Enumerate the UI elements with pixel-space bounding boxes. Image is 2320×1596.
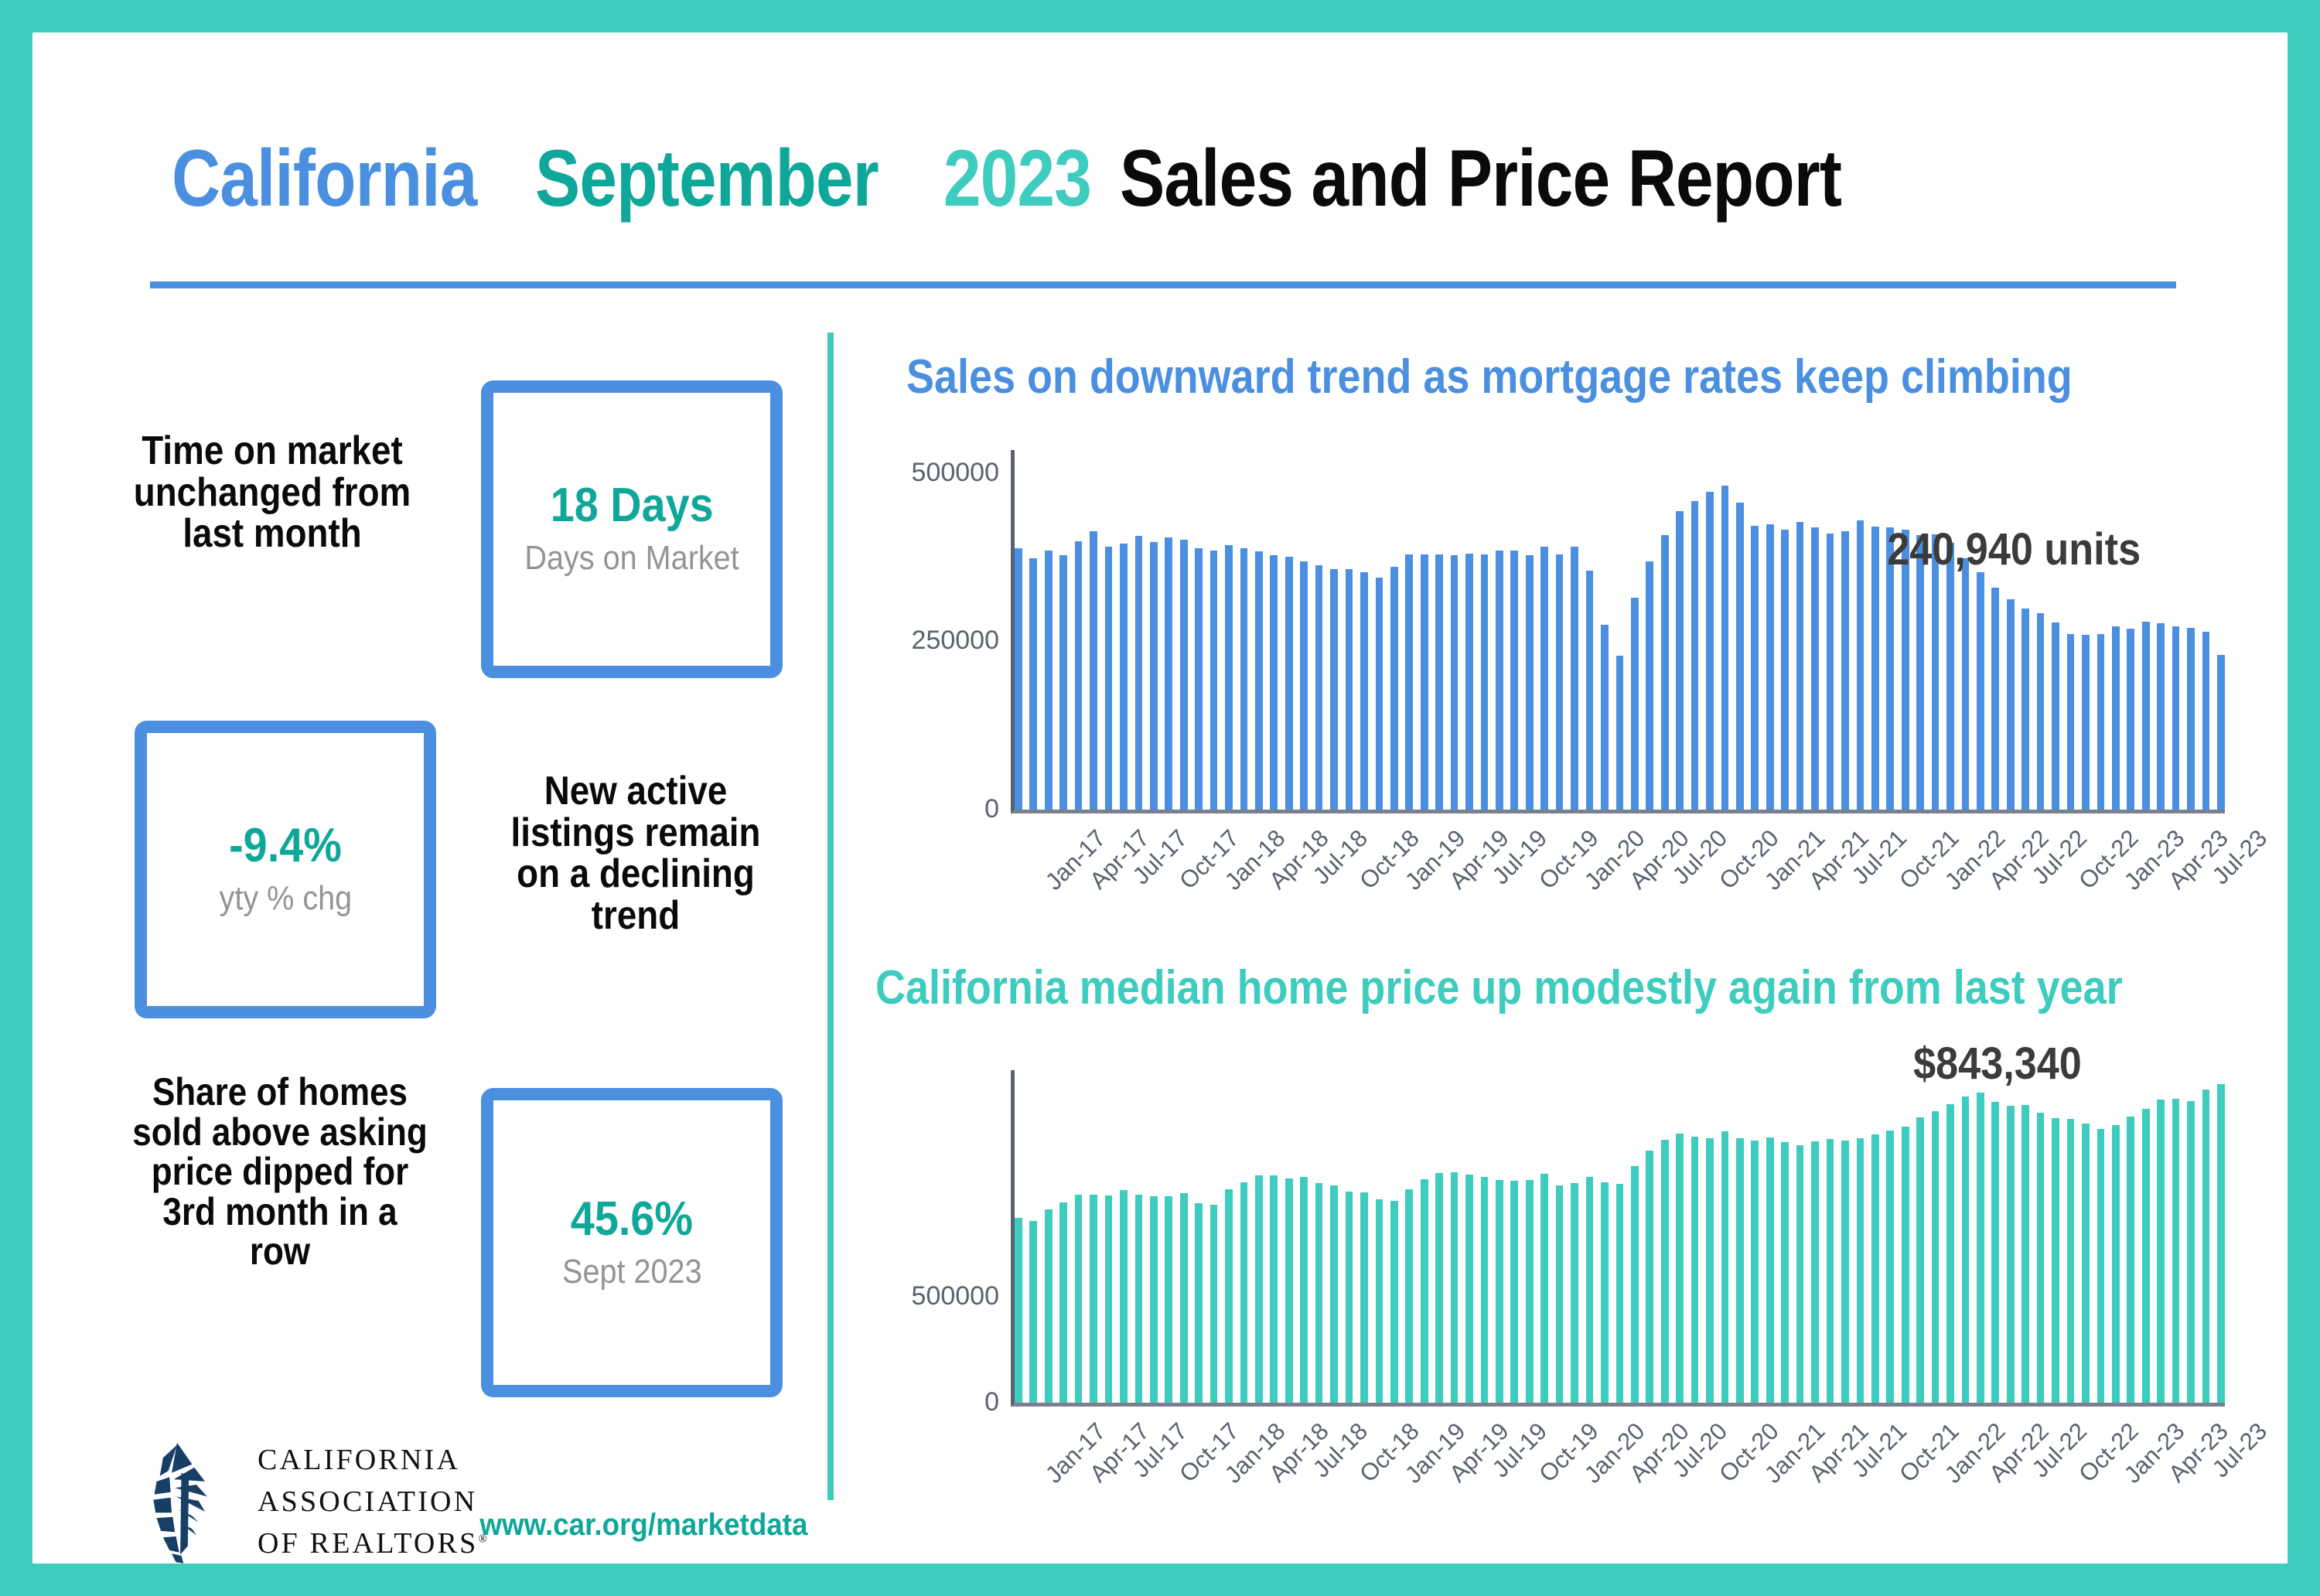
bar bbox=[1120, 544, 1128, 810]
bar bbox=[1827, 1139, 1834, 1403]
bar bbox=[1766, 524, 1774, 810]
sales-bar-series bbox=[1015, 450, 2225, 810]
bar bbox=[1270, 555, 1278, 810]
bar bbox=[1465, 554, 1473, 810]
sales-plot-area bbox=[1011, 450, 2225, 813]
bar bbox=[1435, 554, 1443, 810]
bar bbox=[1991, 588, 1999, 810]
bar bbox=[2082, 1124, 2090, 1403]
bar bbox=[2037, 613, 2045, 810]
bar bbox=[1496, 551, 1503, 810]
bar bbox=[2037, 1113, 2045, 1403]
card-above-asking[interactable]: 45.6% Sept 2023 bbox=[481, 1088, 783, 1397]
bar bbox=[2142, 1109, 2150, 1403]
bar bbox=[2067, 1119, 2075, 1403]
bar bbox=[1059, 555, 1067, 810]
bar bbox=[1075, 541, 1083, 810]
bar bbox=[2052, 622, 2059, 810]
bar bbox=[1661, 535, 1669, 810]
bar bbox=[1556, 554, 1564, 810]
bar bbox=[1165, 537, 1172, 810]
page-title: California September 2023 Sales and Pric… bbox=[172, 133, 2198, 234]
bar bbox=[2187, 628, 2195, 810]
bar bbox=[1270, 1175, 1278, 1403]
bar bbox=[1390, 1201, 1398, 1403]
bar bbox=[1195, 548, 1203, 810]
sales-chart-block: Sales on downward trend as mortgage rate… bbox=[875, 342, 2260, 929]
bar bbox=[1481, 1177, 1489, 1403]
bar bbox=[1977, 572, 1984, 810]
bar bbox=[1090, 531, 1097, 810]
bar bbox=[1105, 547, 1113, 810]
bar bbox=[2097, 1129, 2105, 1403]
price-x-axis-labels: Jan-17Apr-17Jul-17Oct-17Jan-18Apr-18Jul-… bbox=[1011, 1414, 2225, 1507]
bar bbox=[1962, 1096, 1970, 1403]
bar bbox=[2187, 1101, 2195, 1403]
bar bbox=[1510, 1181, 1518, 1403]
bar bbox=[1601, 1182, 1609, 1403]
bar bbox=[1916, 535, 1924, 810]
bar bbox=[1285, 557, 1293, 810]
bar bbox=[1691, 1137, 1699, 1403]
bar bbox=[1195, 1203, 1203, 1403]
bar bbox=[1526, 555, 1534, 810]
bar bbox=[2217, 1084, 2225, 1403]
sales-chart-title: Sales on downward trend as mortgage rate… bbox=[906, 350, 2073, 404]
bar bbox=[2127, 1117, 2134, 1403]
bar bbox=[1977, 1093, 1984, 1403]
bar bbox=[1405, 1189, 1413, 1403]
bar bbox=[1676, 511, 1684, 810]
bar bbox=[1405, 554, 1413, 810]
bar bbox=[1135, 1195, 1143, 1403]
price-chart-block: California median home price up modestly… bbox=[875, 953, 2260, 1509]
bar bbox=[1451, 555, 1459, 810]
price-ytick-0: 0 bbox=[860, 1387, 999, 1417]
bar bbox=[1841, 531, 1849, 810]
bar bbox=[1811, 527, 1819, 810]
bar bbox=[1540, 1174, 1548, 1403]
card-label: Days on Market bbox=[524, 538, 739, 579]
bar bbox=[2157, 1100, 2165, 1403]
bar bbox=[1090, 1195, 1097, 1403]
bar bbox=[1661, 1140, 1669, 1403]
bar bbox=[1390, 567, 1398, 810]
bar bbox=[1781, 1142, 1789, 1403]
bar bbox=[2112, 626, 2120, 810]
bar bbox=[2007, 1106, 2015, 1403]
bar bbox=[1691, 501, 1699, 810]
bar bbox=[1421, 554, 1428, 810]
bar bbox=[1360, 1192, 1368, 1403]
bar bbox=[1225, 545, 1233, 810]
bar bbox=[1601, 625, 1609, 810]
bar bbox=[1556, 1185, 1564, 1403]
bar bbox=[2052, 1118, 2059, 1403]
bar bbox=[1841, 1141, 1849, 1403]
bar bbox=[1796, 522, 1804, 810]
bar bbox=[2172, 626, 2180, 810]
price-plot-area bbox=[1011, 1070, 2225, 1407]
bar bbox=[1796, 1145, 1804, 1403]
bar bbox=[1481, 554, 1489, 810]
bar bbox=[1346, 569, 1353, 810]
card-new-listings[interactable]: -9.4% yty % chg bbox=[135, 721, 436, 1018]
bar bbox=[1586, 571, 1594, 810]
bar bbox=[1751, 526, 1759, 810]
bar bbox=[1902, 1127, 1909, 1403]
bar bbox=[1135, 536, 1143, 810]
bar bbox=[1180, 540, 1188, 810]
blurb-time-on-market: Time on market unchanged from last month bbox=[122, 431, 421, 555]
bar bbox=[1781, 530, 1789, 810]
bar bbox=[2217, 655, 2225, 810]
bar bbox=[1540, 547, 1548, 810]
bar bbox=[1029, 1221, 1037, 1403]
bar bbox=[1736, 503, 1744, 810]
bar bbox=[1857, 520, 1865, 810]
bar bbox=[1932, 1111, 1940, 1403]
bar bbox=[1029, 558, 1037, 810]
bar bbox=[1465, 1175, 1473, 1403]
bar bbox=[1376, 1199, 1383, 1403]
bar bbox=[2067, 634, 2075, 810]
bar bbox=[1045, 551, 1053, 810]
bar bbox=[1315, 1183, 1323, 1403]
bar bbox=[2112, 1125, 2120, 1403]
bar bbox=[1240, 1182, 1248, 1403]
bar bbox=[1991, 1102, 1999, 1403]
logo-line-2: ASSOCIATION bbox=[258, 1482, 490, 1523]
title-divider bbox=[150, 281, 2176, 288]
bar bbox=[1646, 561, 1653, 810]
card-label: yty % chg bbox=[219, 878, 352, 919]
bar bbox=[1150, 1196, 1158, 1403]
bar bbox=[1255, 551, 1263, 810]
bar bbox=[1451, 1172, 1459, 1403]
bar bbox=[2202, 632, 2210, 810]
bar bbox=[1315, 565, 1323, 810]
bar bbox=[1736, 1138, 1744, 1403]
bar bbox=[1871, 527, 1879, 810]
bar bbox=[1105, 1195, 1113, 1403]
bar bbox=[2021, 609, 2029, 810]
bar bbox=[1631, 1166, 1639, 1403]
bar bbox=[1150, 542, 1158, 810]
bar bbox=[1631, 598, 1639, 810]
card-value: 18 Days bbox=[551, 479, 714, 532]
bar bbox=[1827, 534, 1834, 810]
title-year: 2023 bbox=[943, 133, 1091, 225]
bar bbox=[1811, 1141, 1819, 1403]
bar bbox=[1962, 558, 1970, 810]
bar bbox=[1526, 1180, 1534, 1403]
blurb-new-listings: New active listings remain on a declinin… bbox=[486, 771, 785, 936]
bar bbox=[1210, 551, 1218, 810]
bar bbox=[1857, 1138, 1865, 1403]
title-month: September bbox=[535, 133, 879, 225]
bar bbox=[2007, 599, 2015, 810]
car-logo-text: CALIFORNIA ASSOCIATION OF REALTORS® bbox=[258, 1440, 490, 1565]
bar bbox=[2157, 623, 2165, 810]
bar bbox=[2202, 1090, 2210, 1403]
logo-line-1: CALIFORNIA bbox=[258, 1440, 490, 1482]
bar bbox=[2127, 629, 2134, 810]
bar bbox=[1210, 1205, 1218, 1403]
bar bbox=[1676, 1134, 1684, 1403]
bar bbox=[1330, 1185, 1338, 1403]
card-value: -9.4% bbox=[229, 820, 342, 872]
bar bbox=[1376, 578, 1383, 810]
bar bbox=[1496, 1180, 1503, 1403]
sales-ytick-0: 0 bbox=[860, 794, 999, 824]
bar bbox=[1180, 1193, 1188, 1403]
bar bbox=[1586, 1177, 1594, 1403]
price-ytick-500000: 500000 bbox=[860, 1281, 999, 1311]
bar bbox=[1240, 548, 1248, 810]
sales-x-axis-labels: Jan-17Apr-17Jul-17Oct-17Jan-18Apr-18Jul-… bbox=[1011, 821, 2225, 914]
bar bbox=[1721, 1131, 1729, 1403]
card-days-on-market[interactable]: 18 Days Days on Market bbox=[481, 380, 783, 678]
bar bbox=[1946, 543, 1954, 810]
bar bbox=[1300, 1177, 1308, 1403]
bar bbox=[1015, 548, 1022, 810]
bar bbox=[1886, 1130, 1894, 1403]
bar bbox=[1616, 656, 1624, 810]
car-logo[interactable]: CALIFORNIA ASSOCIATION OF REALTORS® bbox=[125, 1440, 490, 1565]
logo-line-3: OF REALTORS bbox=[258, 1527, 478, 1560]
bar bbox=[1421, 1179, 1428, 1403]
sales-ytick-500000: 500000 bbox=[860, 458, 999, 488]
bar bbox=[1120, 1190, 1128, 1403]
bar bbox=[1300, 561, 1308, 810]
bar bbox=[1225, 1189, 1233, 1403]
bar bbox=[2021, 1105, 2029, 1403]
price-chart-title: California median home price up modestly… bbox=[875, 960, 2123, 1015]
price-bar-series bbox=[1015, 1070, 2225, 1403]
bar bbox=[1015, 1218, 1022, 1403]
bar bbox=[1616, 1184, 1624, 1403]
bar bbox=[1360, 572, 1368, 810]
infographic-frame: California September 2023 Sales and Pric… bbox=[32, 32, 2288, 1564]
bar bbox=[2082, 635, 2090, 810]
bar bbox=[1932, 534, 1940, 810]
bar bbox=[1871, 1134, 1879, 1403]
bar bbox=[1571, 1183, 1578, 1403]
bar bbox=[1751, 1141, 1759, 1403]
car-logo-mark bbox=[125, 1441, 237, 1564]
bar bbox=[1706, 492, 1714, 810]
bar bbox=[1916, 1117, 1924, 1403]
bar bbox=[1721, 486, 1729, 810]
blurb-above-asking: Share of homes sold above asking price d… bbox=[130, 1073, 429, 1272]
bar bbox=[1346, 1192, 1353, 1403]
bar bbox=[1510, 551, 1518, 810]
bar bbox=[1646, 1151, 1653, 1403]
bar bbox=[1075, 1195, 1083, 1403]
bar bbox=[1706, 1138, 1714, 1403]
bar bbox=[1435, 1173, 1443, 1403]
bar bbox=[2172, 1099, 2180, 1403]
sales-ytick-250000: 250000 bbox=[860, 626, 999, 656]
stats-column: Time on market unchanged from last month… bbox=[87, 342, 821, 1517]
bar bbox=[1045, 1209, 1053, 1403]
column-divider bbox=[827, 332, 834, 1500]
bar bbox=[2097, 634, 2105, 810]
bar bbox=[1285, 1178, 1293, 1403]
bar bbox=[1059, 1202, 1067, 1403]
bar bbox=[1330, 569, 1338, 810]
market-data-url[interactable]: www.car.org/marketdata bbox=[479, 1508, 807, 1543]
title-state: California bbox=[172, 133, 476, 225]
bar bbox=[1766, 1137, 1774, 1403]
bar bbox=[1255, 1175, 1263, 1403]
bar bbox=[1165, 1196, 1172, 1403]
card-label: Sept 2023 bbox=[562, 1252, 702, 1293]
sales-callout: 240,940 units bbox=[1887, 523, 2141, 575]
bar bbox=[2142, 622, 2150, 810]
title-rest: Sales and Price Report bbox=[1120, 133, 1841, 225]
bar bbox=[1571, 547, 1578, 810]
bar bbox=[1946, 1104, 1954, 1403]
card-value: 45.6% bbox=[571, 1193, 693, 1246]
